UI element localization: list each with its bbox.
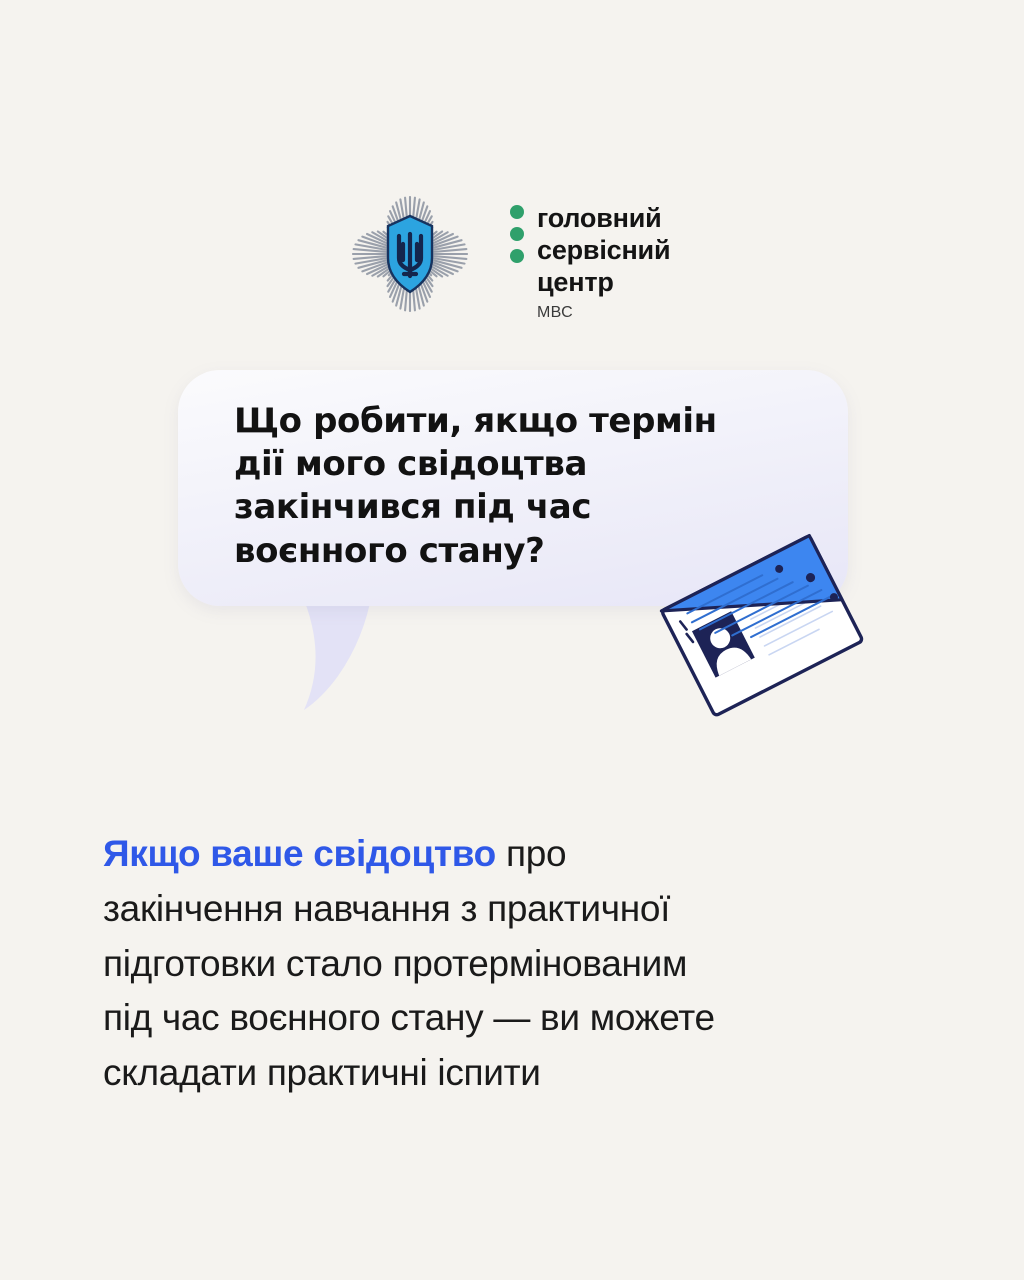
mvs-starburst-emblem — [352, 196, 468, 312]
green-dot-icon — [510, 205, 524, 219]
green-dot-icon — [510, 227, 524, 241]
expired-certificate-card — [640, 525, 880, 755]
poster-page: головний сервісний центр МВС Що робити, … — [0, 0, 1024, 1280]
wordmark-line-2: сервісний — [537, 234, 670, 266]
gsc-wordmark: головний сервісний центр МВС — [510, 196, 670, 323]
brand-header: головний сервісний центр МВС — [352, 196, 670, 323]
wordmark-line-1: головний — [537, 202, 670, 234]
green-dot-icon — [510, 249, 524, 263]
wordmark-subtitle: МВС — [537, 303, 670, 322]
wordmark-line-3: центр — [537, 266, 670, 298]
body-highlight: Якщо ваше свідоцтво — [103, 833, 496, 874]
green-dots-group — [510, 202, 524, 263]
body-paragraph: Якщо ваше свідоцтво про закінчення навча… — [103, 827, 933, 1101]
